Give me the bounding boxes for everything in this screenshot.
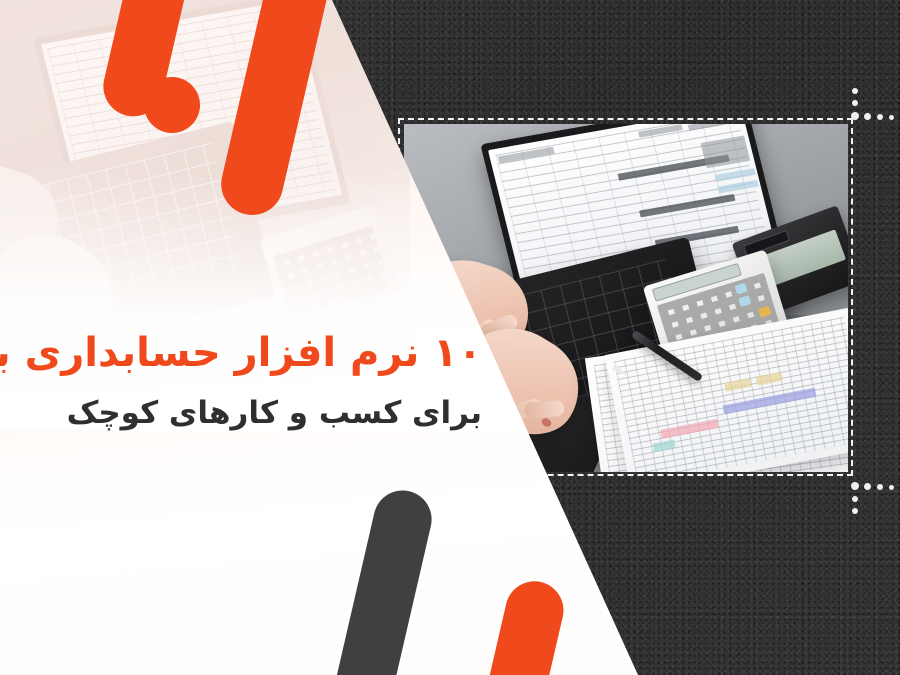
orange-bar-bottom — [477, 576, 570, 675]
decor-dot — [864, 113, 871, 120]
decor-dot — [852, 508, 858, 514]
decor-dot — [889, 115, 894, 120]
decor-dot — [851, 112, 859, 120]
decor-dot — [852, 100, 858, 106]
page-title: ۱۰ نرم افزار حسابداری برتر — [12, 330, 482, 377]
headline-block: ۱۰ نرم افزار حسابداری برتر برای کسب و کا… — [12, 330, 482, 432]
decor-dot — [851, 482, 859, 490]
orange-circle-dot — [144, 77, 200, 133]
page-subtitle: برای کسب و کارهای کوچک — [12, 395, 482, 432]
decor-dot — [877, 484, 883, 490]
dark-bar-bottom — [325, 485, 438, 675]
decor-dot — [889, 485, 894, 490]
decor-dot — [877, 114, 883, 120]
decor-dot — [852, 496, 858, 502]
decor-dot — [864, 483, 871, 490]
decor-dot — [852, 88, 858, 94]
promo-banner: ۱۰ نرم افزار حسابداری برتر برای کسب و کا… — [0, 0, 900, 675]
